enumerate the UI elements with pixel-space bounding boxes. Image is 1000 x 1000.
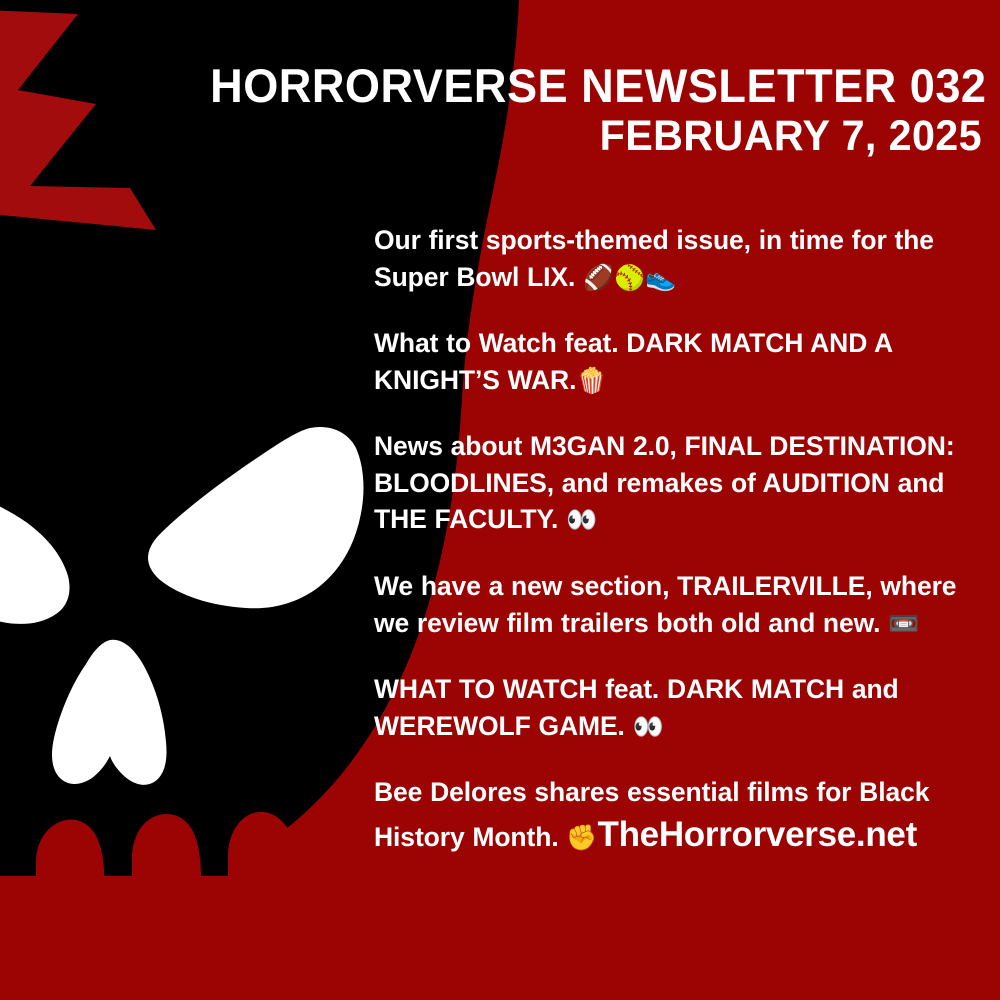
page-title: HORRORVERSE NEWSLETTER 032 — [210, 62, 982, 111]
headline-block: HORRORVERSE NEWSLETTER 032 FEBRUARY 7, 2… — [178, 62, 982, 159]
popcorn-icon: 🍿 — [576, 366, 607, 395]
paragraph-what-to-watch-2: WHAT TO WATCH feat. DARK MATCH and WEREW… — [374, 671, 986, 744]
website-url[interactable]: TheHorrorverse.net — [598, 815, 917, 854]
football-softball-shoe-icon: 🏈🥎👟 — [583, 263, 676, 292]
horrorverse-newsletter-poster: HORRORVERSE NEWSLETTER 032 FEBRUARY 7, 2… — [0, 0, 1000, 1000]
eyes-icon-2: 👀 — [633, 712, 664, 741]
videocassette-icon: 📼 — [888, 609, 919, 638]
issue-date: FEBRUARY 7, 2025 — [210, 113, 982, 159]
paragraph-news-text: News about M3GAN 2.0, FINAL DESTINATION:… — [374, 431, 955, 534]
eyes-icon: 👀 — [566, 505, 597, 534]
paragraph-what-to-watch-1-text: What to Watch feat. DARK MATCH AND A KNI… — [374, 328, 892, 395]
paragraph-what-to-watch-1: What to Watch feat. DARK MATCH AND A KNI… — [374, 325, 986, 398]
paragraph-news: News about M3GAN 2.0, FINAL DESTINATION:… — [374, 428, 986, 538]
raised-fist-icon: ✊ — [566, 823, 597, 852]
paragraph-black-history-month: Bee Delores shares essential films for B… — [374, 774, 986, 859]
paragraph-trailerville-text: We have a new section, TRAILERVILLE, whe… — [374, 571, 956, 638]
body-copy: Our first sports-themed issue, in time f… — [374, 222, 986, 859]
paragraph-intro: Our first sports-themed issue, in time f… — [374, 222, 986, 295]
text-column: HORRORVERSE NEWSLETTER 032 FEBRUARY 7, 2… — [374, 0, 982, 1000]
paragraph-trailerville: We have a new section, TRAILERVILLE, whe… — [374, 568, 986, 641]
